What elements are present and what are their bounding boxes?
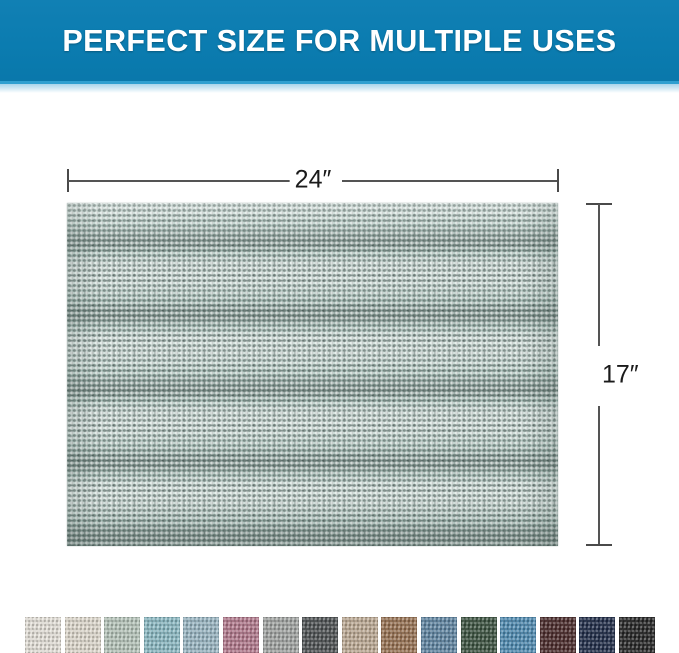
width-dimension-cap-right [557, 169, 559, 192]
color-swatch-cream-beige[interactable] [65, 617, 101, 653]
color-swatch-brown[interactable] [381, 617, 417, 653]
swatch-texture [183, 617, 219, 653]
swatch-texture [65, 617, 101, 653]
height-dimension-cap-bottom [586, 544, 612, 546]
height-dimension-line-top [598, 204, 600, 346]
width-dimension-line-right [342, 180, 558, 182]
color-swatch-blue-gray[interactable] [183, 617, 219, 653]
color-swatch-sage[interactable] [104, 617, 140, 653]
page-title: PERFECT SIZE FOR MULTIPLE USES [5, 0, 674, 81]
width-dimension-label: 24″ [290, 168, 337, 193]
color-swatch-row [25, 617, 655, 653]
color-swatch-ocean-blue[interactable] [500, 617, 536, 653]
header-fade-gradient [0, 84, 679, 93]
color-swatch-steel-blue[interactable] [421, 617, 457, 653]
color-swatch-charcoal[interactable] [302, 617, 338, 653]
swatch-texture [25, 617, 61, 653]
swatch-texture [144, 617, 180, 653]
color-swatch-navy[interactable] [579, 617, 615, 653]
color-swatch-taupe[interactable] [342, 617, 378, 653]
color-swatch-rose[interactable] [223, 617, 259, 653]
width-dimension: 24″ [67, 169, 559, 193]
color-swatch-black[interactable] [619, 617, 655, 653]
swatch-texture [381, 617, 417, 653]
rug-shading-overlay [67, 203, 558, 546]
header-banner: PERFECT SIZE FOR MULTIPLE USES [0, 0, 679, 81]
swatch-texture [104, 617, 140, 653]
swatch-texture [579, 617, 615, 653]
width-dimension-line-left [68, 180, 290, 182]
swatch-texture [421, 617, 457, 653]
swatch-texture [223, 617, 259, 653]
swatch-texture [500, 617, 536, 653]
swatch-texture [263, 617, 299, 653]
height-dimension: 17″ [586, 203, 612, 546]
color-swatch-forest-green[interactable] [461, 617, 497, 653]
color-swatch-ivory[interactable] [25, 617, 61, 653]
swatch-texture [302, 617, 338, 653]
swatch-texture [461, 617, 497, 653]
swatch-texture [342, 617, 378, 653]
height-dimension-line-bottom [598, 406, 600, 545]
color-swatch-gray[interactable] [263, 617, 299, 653]
height-dimension-label: 17″ [599, 357, 639, 392]
product-image-rug [67, 203, 558, 546]
color-swatch-aqua[interactable] [144, 617, 180, 653]
swatch-texture [619, 617, 655, 653]
color-swatch-burgundy[interactable] [540, 617, 576, 653]
swatch-texture [540, 617, 576, 653]
